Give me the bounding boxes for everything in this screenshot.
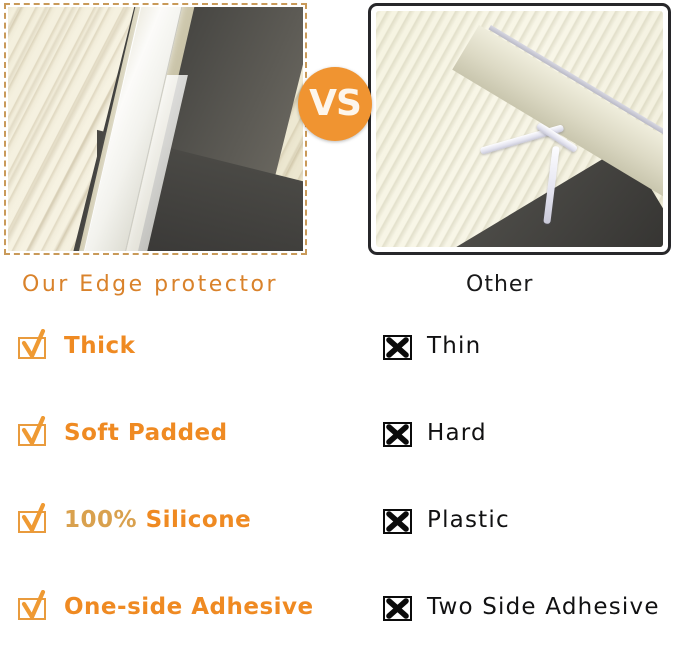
cross-mark-glyph [383,422,412,447]
feature-label-other: Thin [427,335,481,358]
check-box-icon [18,507,48,534]
versus-badge-label: VS [309,86,361,122]
check-box-icon [18,333,48,360]
photo-other-product [368,3,671,255]
check-mark-glyph [20,329,50,361]
check-mark-glyph [20,503,50,535]
cross-box-icon [383,420,413,447]
cross-mark-glyph [383,509,412,534]
feature-row: 100% Silicone Plastic [0,492,679,579]
check-box-icon [18,594,48,621]
photo-our-product [4,3,307,255]
feature-cell-our: One-side Adhesive [18,579,314,635]
cross-box-icon [383,507,413,534]
cross-box-icon [383,594,413,621]
photo-other-product-image [376,11,663,247]
feature-cell-other: Two Side Adhesive [383,579,660,635]
feature-label-our: Soft Padded [64,422,228,445]
versus-badge: VS [298,67,372,141]
cross-mark-glyph [383,596,412,621]
cross-mark-glyph [383,335,412,360]
feature-label-prefix: 100% [64,507,146,533]
feature-row: One-side Adhesive Two Side Adhesive [0,579,679,666]
feature-cell-our: Soft Padded [18,405,228,461]
feature-cell-other: Plastic [383,492,510,548]
feature-label-our: One-side Adhesive [64,596,314,619]
feature-label-other: Hard [427,422,487,445]
cross-box-icon [383,333,413,360]
column-header-our-product: Our Edge protector [22,272,278,297]
feature-label-other: Plastic [427,509,510,532]
feature-comparison-list: Thick Thin Soft Padded [0,318,679,666]
photo-our-product-image [8,7,303,251]
feature-label-emphasis: Silicone [146,507,252,533]
photo-comparison-band: VS [0,0,679,262]
feature-cell-our: Thick [18,318,135,374]
feature-cell-our: 100% Silicone [18,492,251,548]
feature-label-our: 100% Silicone [64,509,251,532]
check-mark-glyph [20,416,50,448]
column-header-other: Other [466,272,533,297]
feature-cell-other: Thin [383,318,481,374]
feature-row: Thick Thin [0,318,679,405]
feature-label-our: Thick [64,335,135,358]
feature-row: Soft Padded Hard [0,405,679,492]
feature-label-other: Two Side Adhesive [427,596,660,619]
check-mark-glyph [20,590,50,622]
check-box-icon [18,420,48,447]
feature-cell-other: Hard [383,405,487,461]
